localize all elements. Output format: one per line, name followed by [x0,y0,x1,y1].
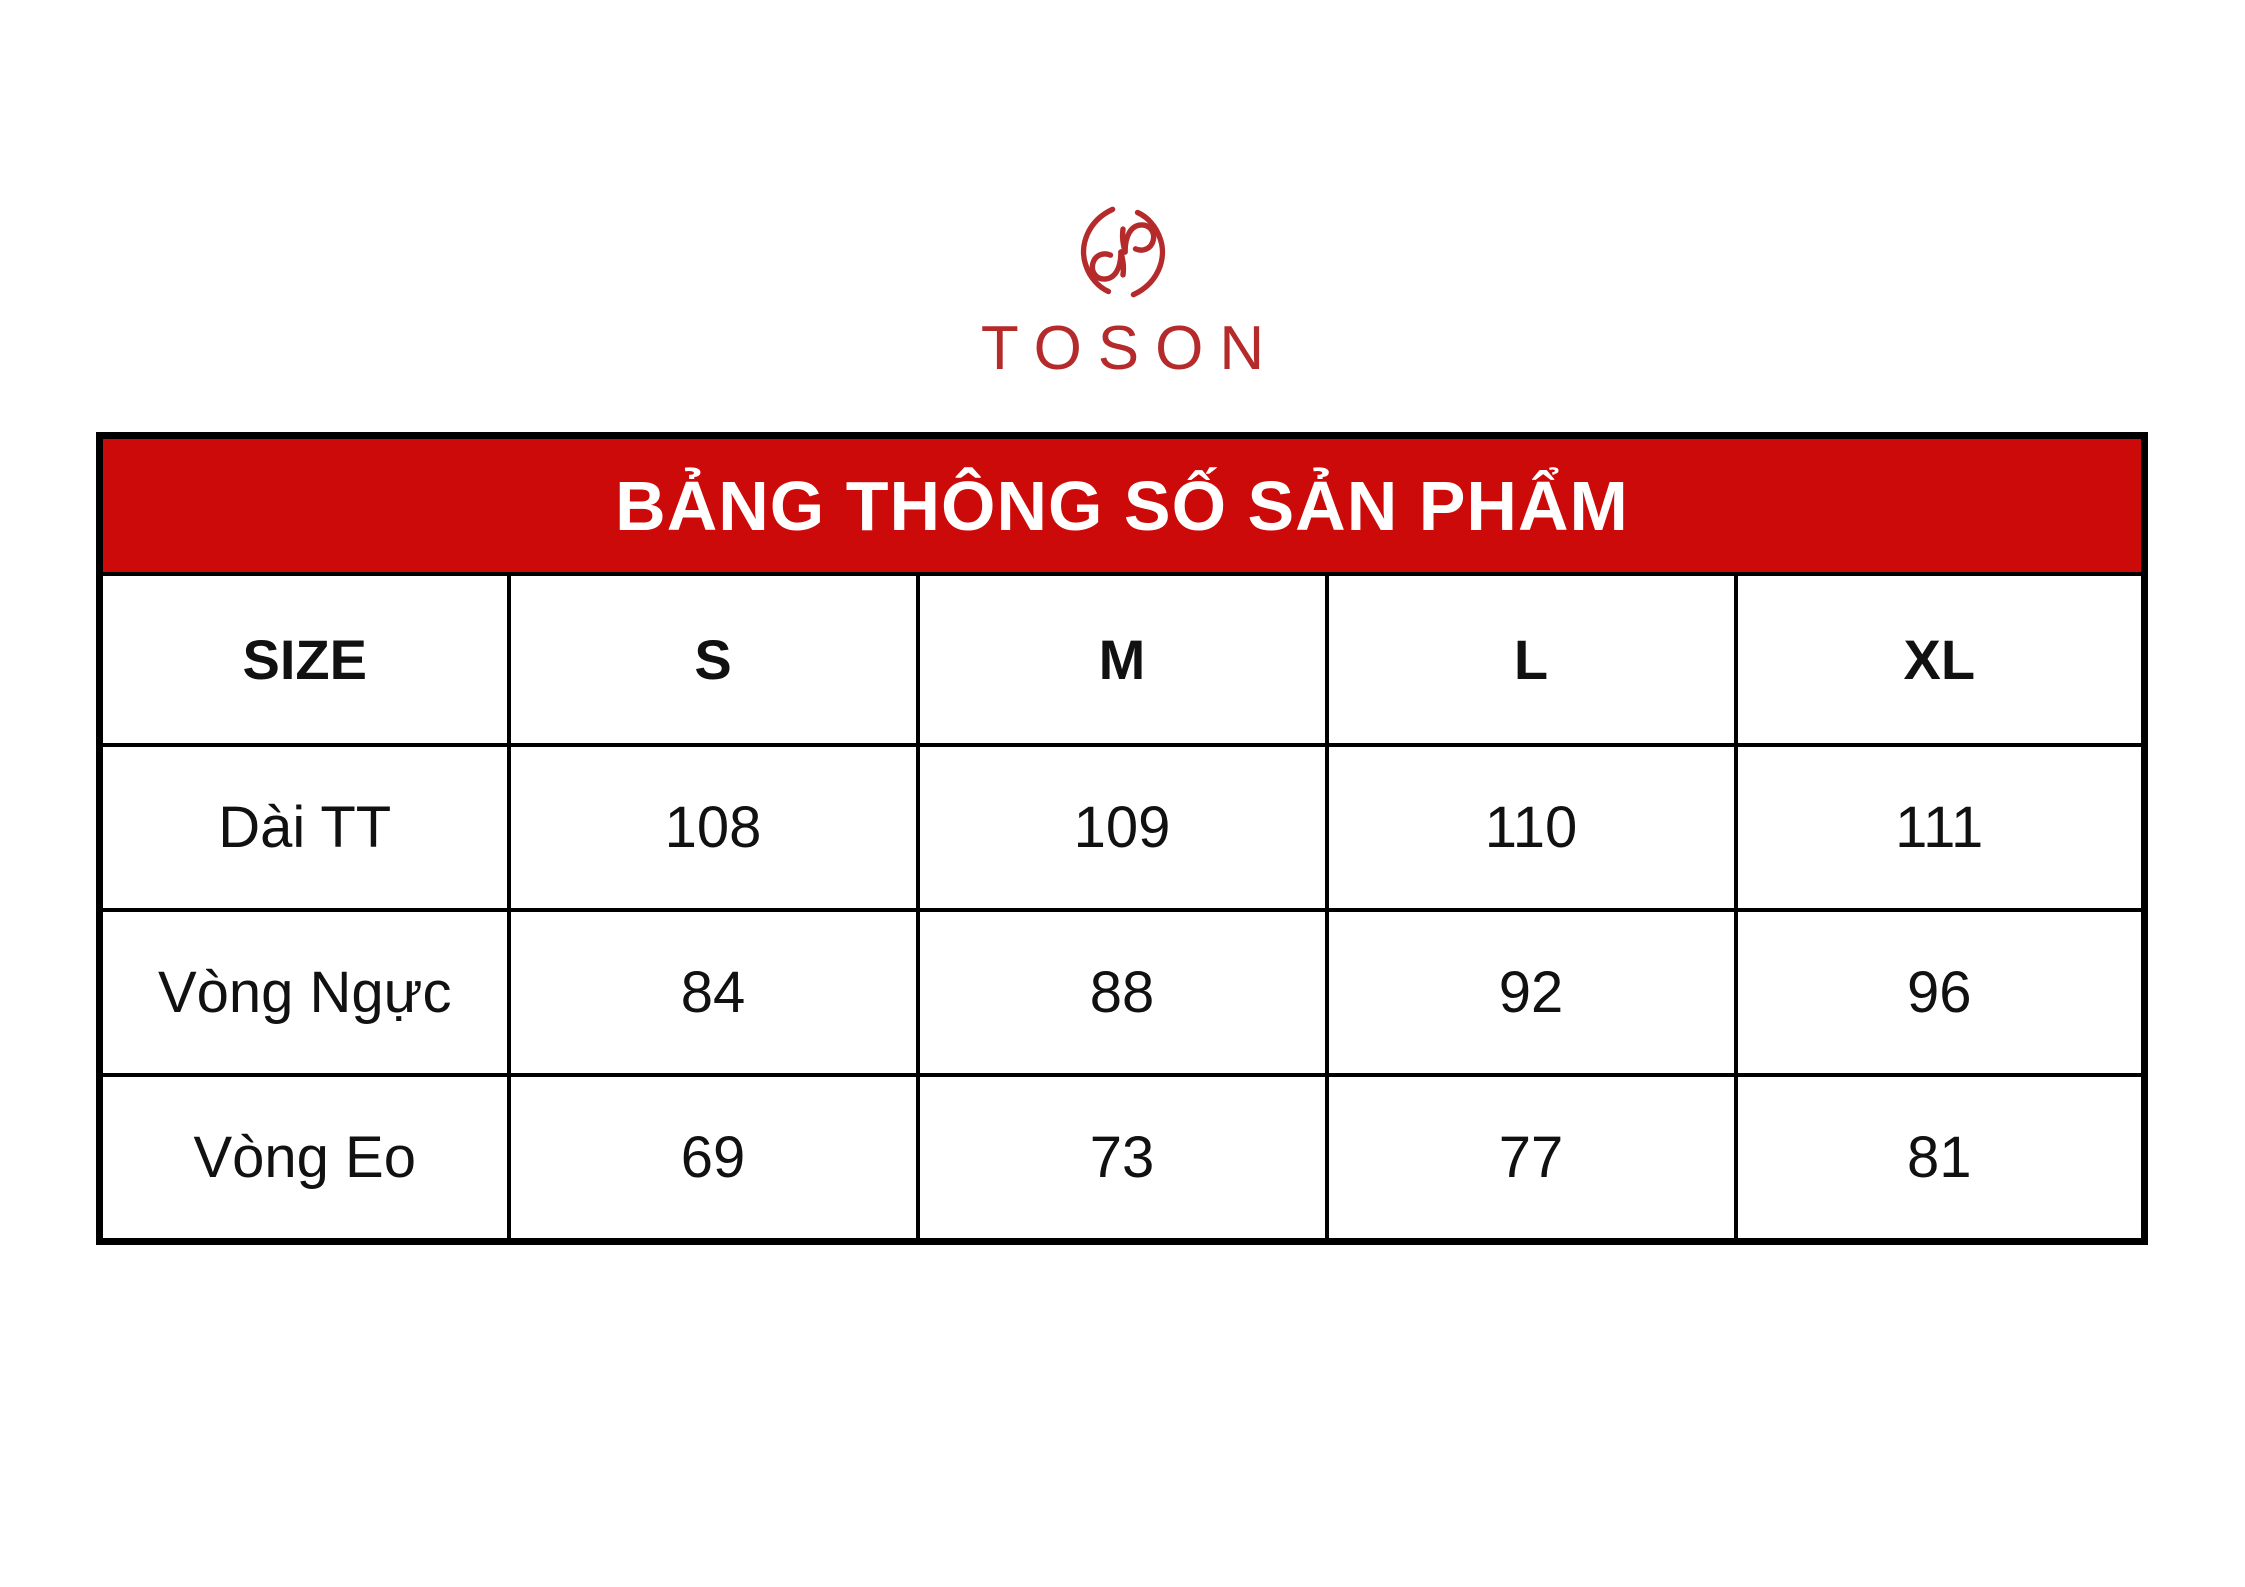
row-label: Vòng Ngực [103,964,507,1022]
row-label-cell: Vòng Ngực [100,910,509,1075]
row-label-cell: Vòng Eo [100,1075,509,1242]
cell-xl: 111 [1736,745,2145,910]
header-cell-l: L [1327,574,1736,745]
header-cell-s: S [509,574,918,745]
cell-value: 77 [1329,1129,1734,1187]
cell-value: 92 [1329,964,1734,1022]
cell-value: 109 [920,799,1325,857]
table-header-row: SIZE S M L XL [100,574,2145,745]
brand-block: TOSON [0,200,2245,380]
row-label: Dài TT [103,799,507,857]
cell-value: 110 [1329,799,1734,857]
cell-s: 69 [509,1075,918,1242]
brand-wordmark: TOSON [965,318,1280,380]
cell-value: 81 [1738,1129,2142,1187]
cell-l: 92 [1327,910,1736,1075]
table-row: Vòng Eo 69 73 77 81 [100,1075,2145,1242]
row-label: Vòng Eo [103,1129,507,1187]
size-chart-page: TOSON BẢNG THÔNG SỐ SẢN PHẨM SIZE S M [0,0,2245,1587]
cell-xl: 96 [1736,910,2145,1075]
cell-m: 109 [918,745,1327,910]
cell-m: 88 [918,910,1327,1075]
header-label-s: S [511,632,916,688]
header-label-xl: XL [1738,632,2142,688]
cell-xl: 81 [1736,1075,2145,1242]
cell-value: 69 [511,1129,916,1187]
table-row: Vòng Ngực 84 88 92 96 [100,910,2145,1075]
cell-value: 111 [1738,799,2142,857]
cell-value: 96 [1738,964,2142,1022]
toson-monogram-icon [1071,200,1175,304]
product-spec-table: BẢNG THÔNG SỐ SẢN PHẨM SIZE S M L XL [96,432,2148,1245]
header-cell-m: M [918,574,1327,745]
table-banner-row: BẢNG THÔNG SỐ SẢN PHẨM [100,436,2145,575]
row-label-cell: Dài TT [100,745,509,910]
banner-title: BẢNG THÔNG SỐ SẢN PHẨM [103,471,2141,541]
cell-value: 84 [511,964,916,1022]
header-label-l: L [1329,632,1734,688]
header-cell-size: SIZE [100,574,509,745]
header-label-m: M [920,632,1325,688]
cell-l: 110 [1327,745,1736,910]
cell-s: 84 [509,910,918,1075]
cell-value: 108 [511,799,916,857]
banner-cell: BẢNG THÔNG SỐ SẢN PHẨM [100,436,2145,575]
cell-l: 77 [1327,1075,1736,1242]
cell-value: 73 [920,1129,1325,1187]
header-cell-xl: XL [1736,574,2145,745]
cell-s: 108 [509,745,918,910]
cell-value: 88 [920,964,1325,1022]
table-row: Dài TT 108 109 110 111 [100,745,2145,910]
header-label-size: SIZE [103,632,507,688]
cell-m: 73 [918,1075,1327,1242]
